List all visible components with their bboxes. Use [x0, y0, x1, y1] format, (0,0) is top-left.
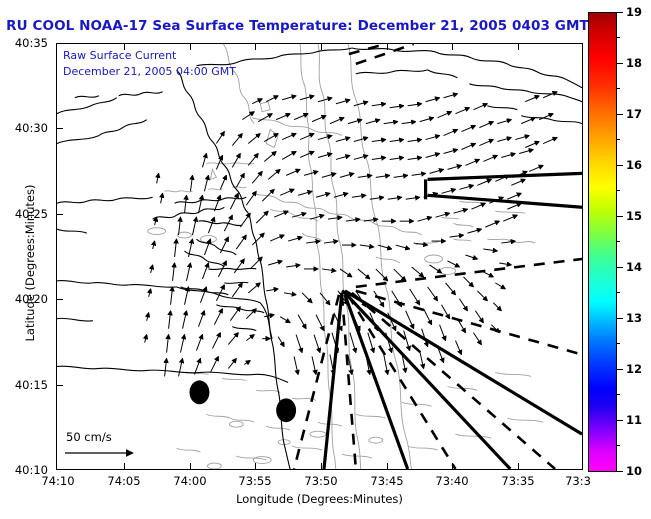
x-tickmark-top-5: [387, 43, 388, 50]
x-tickmark-top-4: [321, 43, 322, 50]
colorbar-tickmark-12: [617, 369, 623, 370]
x-tick-3: 73:55: [238, 474, 271, 488]
x-tick-4: 73:50: [304, 474, 337, 488]
colorbar-tickmark-16: [617, 165, 623, 166]
colorbar-minor-tick-2: [617, 88, 620, 89]
x-tick-8: 73:3: [565, 474, 591, 488]
x-tickmark-top-6: [452, 43, 453, 50]
x-tickmark-1: [124, 463, 125, 470]
colorbar-minor-tick-1: [617, 37, 620, 38]
colorbar-minor-tick-7: [617, 343, 620, 344]
x-tickmark-top-1: [124, 43, 125, 50]
colorbar-label-15: 15: [626, 209, 642, 223]
x-tickmark-4: [321, 463, 322, 470]
colorbar-label-19: 19: [626, 5, 642, 19]
colorbar-tickmark-13: [617, 318, 623, 319]
x-tickmark-7: [518, 463, 519, 470]
colorbar-minor-tick-8: [617, 394, 620, 395]
colorbar[interactable]: [588, 12, 617, 472]
colorbar-tickmark-19: [617, 12, 623, 13]
colorbar-label-12: 12: [626, 362, 642, 376]
x-tickmark-top-2: [190, 43, 191, 50]
colorbar-label-13: 13: [626, 311, 642, 325]
colorbar-tickmark-15: [617, 216, 623, 217]
colorbar-tickmark-17: [617, 114, 623, 115]
x-tickmark-6: [452, 463, 453, 470]
colorbar-label-11: 11: [626, 413, 642, 427]
x-tick-5: 73:45: [370, 474, 403, 488]
x-tick-6: 73:40: [435, 474, 468, 488]
colorbar-tickmark-14: [617, 267, 623, 268]
colorbar-label-16: 16: [626, 158, 642, 172]
colorbar-minor-tick-4: [617, 190, 620, 191]
colorbar-tickmark-10: [617, 471, 623, 472]
x-tickmark-3: [255, 463, 256, 470]
x-tick-0: 74:10: [41, 474, 74, 488]
colorbar-label-10: 10: [626, 464, 642, 478]
colorbar-tickmark-11: [617, 420, 623, 421]
colorbar-minor-tick-3: [617, 139, 620, 140]
colorbar-minor-tick-9: [617, 445, 620, 446]
x-tickmark-top-3: [255, 43, 256, 50]
figure-canvas: RU COOL NOAA-17 Sea Surface Temperature:…: [0, 0, 651, 519]
colorbar-minor-tick-5: [617, 241, 620, 242]
colorbar-tickmark-18: [617, 63, 623, 64]
colorbar-minor-tick-6: [617, 292, 620, 293]
x-tickmark-5: [387, 463, 388, 470]
x-tickmark-top-7: [518, 43, 519, 50]
x-tick-1: 74:05: [107, 474, 140, 488]
x-axis-tick-labels: 74:10 74:05 74:00 73:55 73:50 73:45 73:4…: [0, 0, 651, 519]
x-axis-title: Longitude (Degrees:Minutes): [56, 492, 583, 506]
x-tick-2: 74:00: [173, 474, 206, 488]
x-tickmark-2: [190, 463, 191, 470]
colorbar-label-14: 14: [626, 260, 642, 274]
colorbar-label-17: 17: [626, 107, 642, 121]
x-tick-7: 73:35: [501, 474, 534, 488]
colorbar-label-18: 18: [626, 56, 642, 70]
